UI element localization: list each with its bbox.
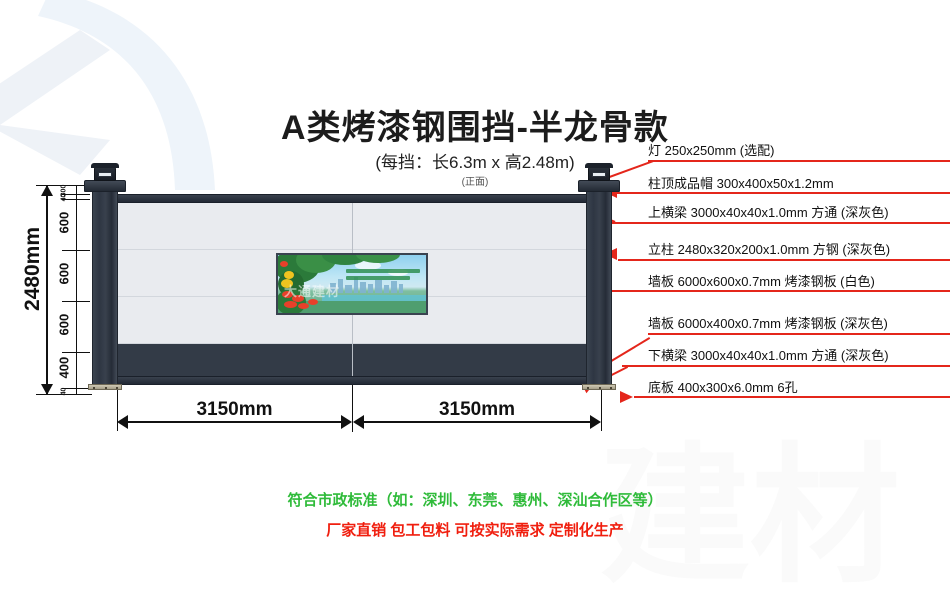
advertising-poster: 大通建材 [276,253,428,315]
annotation-base-plate-rule [634,396,950,398]
annotation-bottom-beam-label: 下横梁 3000x40x40x1.0mm 方通 (深灰色) [648,345,889,364]
annotation-post-label: 立柱 2480x320x200x1.0mm 方钢 (深灰色) [648,239,890,258]
annotation-lamp-label: 灯 250x250mm (选配) [648,140,774,159]
post-right [586,190,612,386]
standards-text: 符合市政标准（如：深圳、东莞、惠州、深汕合作区等） [0,489,950,510]
annotation-post-cap-label: 柱顶成品帽 300x400x50x1.2mm [648,173,834,192]
annotation-lamp-rule [648,160,950,162]
fence-drawing: 大通建材 [92,168,612,390]
annotation-panel-white-label: 墙板 6000x600x0.7mm 烤漆钢板 (白色) [648,271,875,290]
lamp-hood-left [91,163,119,168]
annotation-post-rule [618,259,950,261]
top-beam [112,194,592,203]
annotation-base-plate-arrow [620,391,633,403]
lamp-hood-right [585,163,613,168]
diagram-canvas: 建材 A类烤漆钢围挡-半龙骨款 (每挡：长6.3m x 高2.48m) (正面) [0,0,950,603]
annotation-panel-gray-label: 墙板 6000x400x0.7mm 烤漆钢板 (深灰色) [648,313,888,332]
poster-text-lines [346,269,420,287]
promo-text: 厂家直销 包工包料 可按实际需求 定制化生产 [0,519,950,540]
post-cap-right [578,180,620,192]
lamp-icon-left [94,166,116,181]
poster-watermark: 大通建材 [284,281,340,300]
annotation-base-plate-label: 底板 400x300x6.0mm 6孔 [648,377,798,396]
post-cap-left [84,180,126,192]
lamp-icon-right [588,166,610,181]
annotation-top-beam-rule [600,222,950,224]
annotation-post-cap-rule [615,192,950,194]
annotation-panel-white-rule [572,290,950,292]
base-plate-right [582,384,616,390]
annotation-top-beam-label: 上横梁 3000x40x40x1.0mm 方通 (深灰色) [648,202,889,221]
bottom-beam [112,376,592,385]
annotation-panel-gray-rule [648,333,950,335]
annotation-bottom-beam-rule [622,365,950,367]
base-plate-left [88,384,122,390]
post-left [92,190,118,386]
